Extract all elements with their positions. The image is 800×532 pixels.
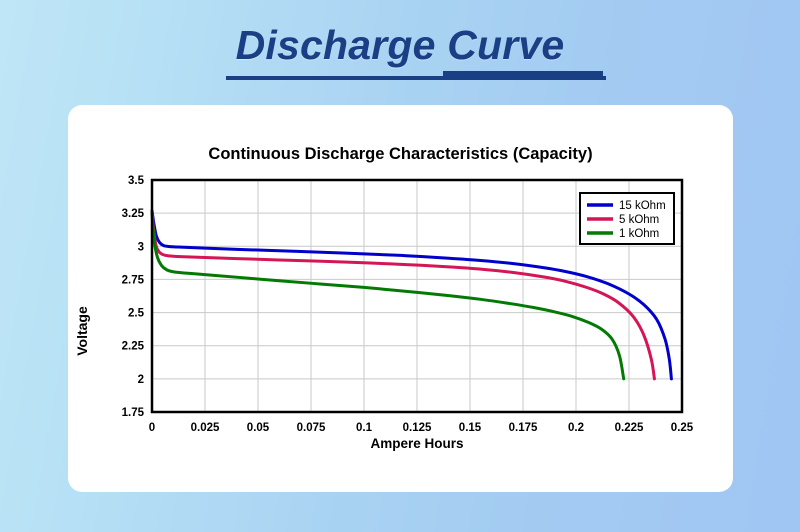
chart-legend: 15 kOhm5 kOhm1 kOhm: [580, 193, 674, 244]
x-tick-label: 0.125: [403, 422, 432, 434]
x-tick-label: 0: [149, 422, 155, 434]
x-tick-label: 0.075: [297, 422, 326, 434]
title-underline-thick: [443, 71, 603, 80]
x-tick-label: 0.025: [191, 422, 220, 434]
legend-label: 5 kOhm: [619, 214, 659, 226]
y-tick-label: 3: [138, 241, 144, 253]
x-tick-label: 0.25: [671, 422, 694, 434]
x-tick-label: 0.1: [356, 422, 373, 434]
y-tick-label: 1.75: [122, 407, 145, 419]
y-tick-label: 3.5: [128, 175, 145, 187]
slide-header: Discharge Curve: [0, 0, 800, 100]
x-tick-label: 0.175: [509, 422, 538, 434]
slide-root: Discharge Curve Continuous Discharge Cha…: [0, 0, 800, 532]
y-tick-label: 2.25: [122, 341, 145, 353]
y-tick-label: 3.25: [122, 208, 145, 220]
legend-label: 1 kOhm: [619, 228, 659, 240]
chart-card: Continuous Discharge Characteristics (Ca…: [68, 105, 733, 492]
y-tick-label: 2: [138, 374, 144, 386]
legend-label: 15 kOhm: [619, 200, 666, 212]
x-tick-label: 0.2: [568, 422, 584, 434]
x-tick-label: 0.225: [615, 422, 644, 434]
discharge-chart: Continuous Discharge Characteristics (Ca…: [68, 105, 733, 492]
y-tick-label: 2.75: [122, 274, 145, 286]
x-tick-label: 0.15: [459, 422, 482, 434]
page-title: Discharge Curve: [0, 22, 800, 68]
plot-area: 3.53.2532.752.52.2521.7500.0250.050.0750…: [68, 105, 733, 492]
y-tick-label: 2.5: [128, 308, 145, 320]
x-tick-label: 0.05: [247, 422, 270, 434]
